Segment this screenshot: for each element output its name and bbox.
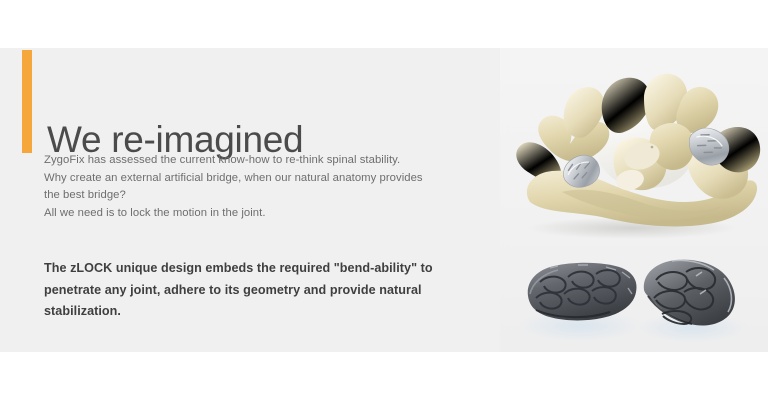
implant-devices-image: [510, 244, 762, 348]
device-right: [644, 260, 735, 326]
lead-line: The zLOCK unique design embeds the requi…: [44, 258, 484, 280]
text-column: We re-imagined ZygoFix has assessed the …: [0, 48, 505, 352]
intro-line: All we need is to lock the motion in the…: [44, 205, 494, 223]
orange-accent-bar: [22, 50, 32, 153]
page-root: We re-imagined ZygoFix has assessed the …: [0, 0, 768, 411]
intro-line: Why create an external artificial bridge…: [44, 170, 494, 188]
device-left: [528, 263, 637, 321]
intro-line: ZygoFix has assessed the current know-ho…: [44, 152, 494, 170]
lead-paragraph: The zLOCK unique design embeds the requi…: [44, 258, 484, 323]
lead-line: penetrate any joint, adhere to its geome…: [44, 280, 484, 302]
intro-paragraph: ZygoFix has assessed the current know-ho…: [44, 152, 494, 222]
media-column: [500, 48, 768, 352]
intro-line: the best bridge?: [44, 187, 494, 205]
lead-line: stabilization.: [44, 301, 484, 323]
spine-render-image: [502, 52, 766, 242]
